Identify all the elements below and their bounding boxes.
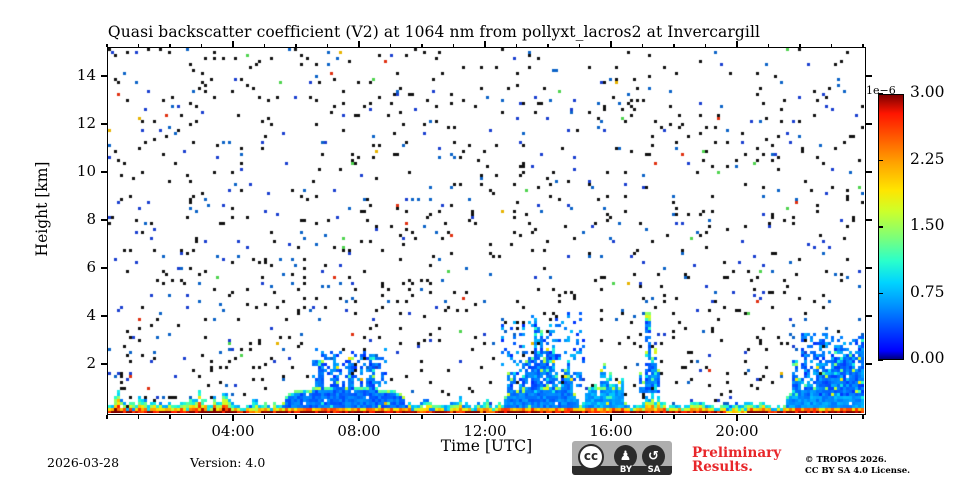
colorbar-tick-label: 0.75 [910, 283, 945, 301]
x-tick-minor [547, 415, 548, 419]
x-tick-minor [169, 415, 170, 419]
x-tick-major-top [610, 41, 611, 47]
x-tick-major [610, 415, 611, 421]
x-tick-minor [264, 415, 265, 419]
x-tick-minor-top [579, 44, 580, 48]
copyright-line-1: © TROPOS 2026. [805, 455, 910, 466]
x-tick-minor [295, 415, 296, 419]
x-tick-minor [201, 415, 202, 419]
x-tick-major-top [232, 41, 233, 47]
cc-sa-label: SA [643, 465, 665, 475]
x-tick-minor-top [799, 44, 800, 48]
x-tick-minor-top [831, 44, 832, 48]
colorbar-tick-label: 3.00 [910, 83, 945, 101]
colorbar-tick [878, 226, 883, 227]
x-tick-minor-top [547, 44, 548, 48]
y-tick-label: 2 [0, 354, 96, 372]
y-tick-major [101, 315, 107, 316]
y-tick-major-right [866, 219, 872, 220]
colorbar-tick [878, 293, 883, 294]
colorbar-tick-label: 2.25 [910, 150, 945, 168]
x-tick-minor [642, 415, 643, 419]
x-tick-major [736, 415, 737, 421]
y-tick-major [101, 363, 107, 364]
x-tick-minor-top [768, 44, 769, 48]
copyright-notice: © TROPOS 2026. CC BY SA 4.0 License. [805, 455, 910, 477]
y-tick-major [101, 75, 107, 76]
colorbar-tick [878, 359, 883, 360]
y-tick-label: 4 [0, 306, 96, 324]
x-tick-minor [579, 415, 580, 419]
y-tick-major-right [866, 75, 872, 76]
colorbar-tick-label: 1.50 [910, 216, 945, 234]
figure-canvas: Quasi backscatter coefficient (V2) at 10… [0, 0, 960, 480]
x-tick-major [484, 415, 485, 421]
y-tick-major-right [866, 267, 872, 268]
x-tick-minor-top [862, 44, 863, 48]
page-title: Quasi backscatter coefficient (V2) at 10… [0, 23, 868, 41]
x-tick-minor [799, 415, 800, 419]
colorbar-tick-label: 0.00 [910, 349, 945, 367]
x-tick-minor [106, 415, 107, 419]
y-tick-major [101, 123, 107, 124]
x-tick-minor [673, 415, 674, 419]
x-tick-minor-top [138, 44, 139, 48]
x-tick-minor-top [421, 44, 422, 48]
y-tick-label: 14 [0, 66, 96, 84]
x-tick-minor-top [201, 44, 202, 48]
x-tick-minor-top [264, 44, 265, 48]
y-tick-major [101, 171, 107, 172]
x-tick-minor-top [453, 44, 454, 48]
cc-by-label: BY [615, 465, 637, 475]
colorbar-tick [878, 160, 883, 161]
y-tick-major-right [866, 123, 872, 124]
x-tick-minor [705, 415, 706, 419]
x-tick-minor [327, 415, 328, 419]
x-tick-minor-top [169, 44, 170, 48]
x-tick-minor-top [673, 44, 674, 48]
x-tick-minor [516, 415, 517, 419]
x-tick-major [358, 415, 359, 421]
x-tick-major [232, 415, 233, 421]
preliminary-line-1: Preliminary [692, 446, 802, 460]
preliminary-line-2: Results. [692, 460, 802, 474]
x-tick-major-top [358, 41, 359, 47]
y-tick-major-right [866, 171, 872, 172]
x-tick-major-top [484, 41, 485, 47]
colorbar-tick [878, 93, 883, 94]
y-axis-title: Height [km] [33, 129, 51, 289]
footer-version: Version: 4.0 [190, 455, 265, 470]
preliminary-results-notice: Preliminary Results. [692, 446, 802, 474]
plot-area[interactable] [107, 47, 866, 415]
x-tick-minor [138, 415, 139, 419]
x-tick-minor [453, 415, 454, 419]
x-tick-minor-top [516, 44, 517, 48]
x-tick-minor-top [642, 44, 643, 48]
cc-logo-icon: cc [578, 444, 604, 470]
x-tick-minor-top [705, 44, 706, 48]
x-tick-minor-top [327, 44, 328, 48]
heatmap-canvas [108, 48, 864, 413]
y-tick-major-right [866, 315, 872, 316]
x-tick-minor [390, 415, 391, 419]
y-tick-major-right [866, 363, 872, 364]
x-tick-minor [831, 415, 832, 419]
x-tick-minor [768, 415, 769, 419]
x-tick-minor-top [106, 44, 107, 48]
x-tick-major-top [736, 41, 737, 47]
y-tick-major [101, 267, 107, 268]
x-tick-minor [862, 415, 863, 419]
y-tick-major [101, 219, 107, 220]
cc-license-badge[interactable]: cc ♟ ↺ BY SA [572, 441, 672, 475]
x-tick-minor-top [295, 44, 296, 48]
x-tick-minor-top [390, 44, 391, 48]
x-tick-minor [421, 415, 422, 419]
footer-date: 2026-03-28 [47, 455, 119, 470]
copyright-line-2: CC BY SA 4.0 License. [805, 466, 910, 477]
